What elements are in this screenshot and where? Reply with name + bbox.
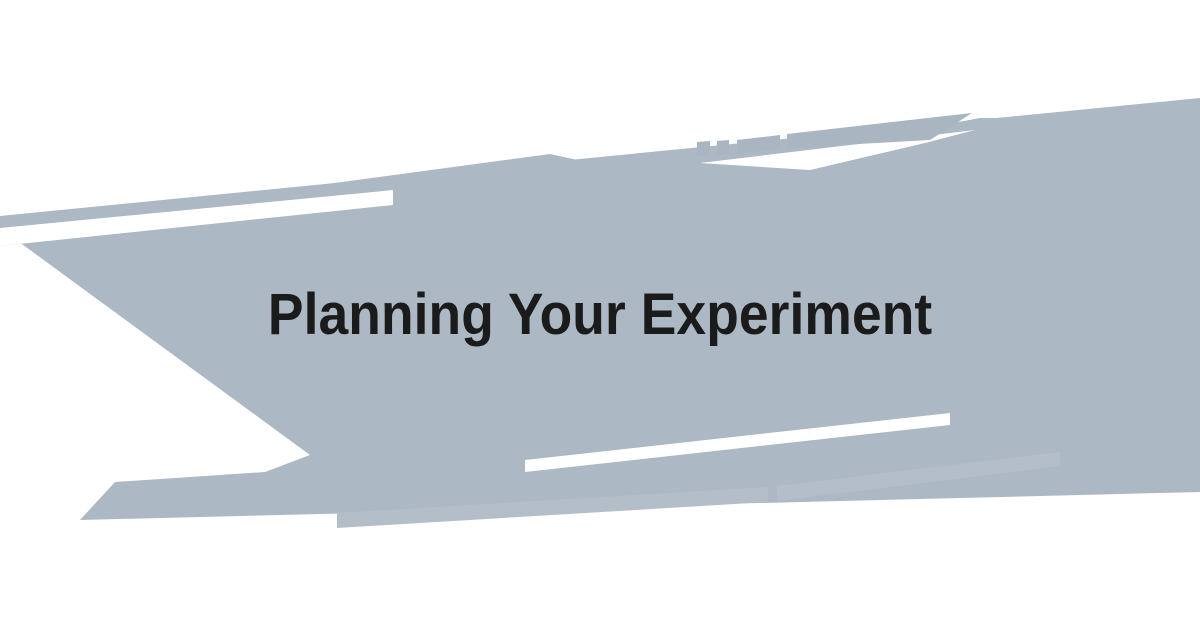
banner-background-svg xyxy=(0,0,1200,630)
banner-graphic: Planning Your Experiment xyxy=(0,0,1200,630)
